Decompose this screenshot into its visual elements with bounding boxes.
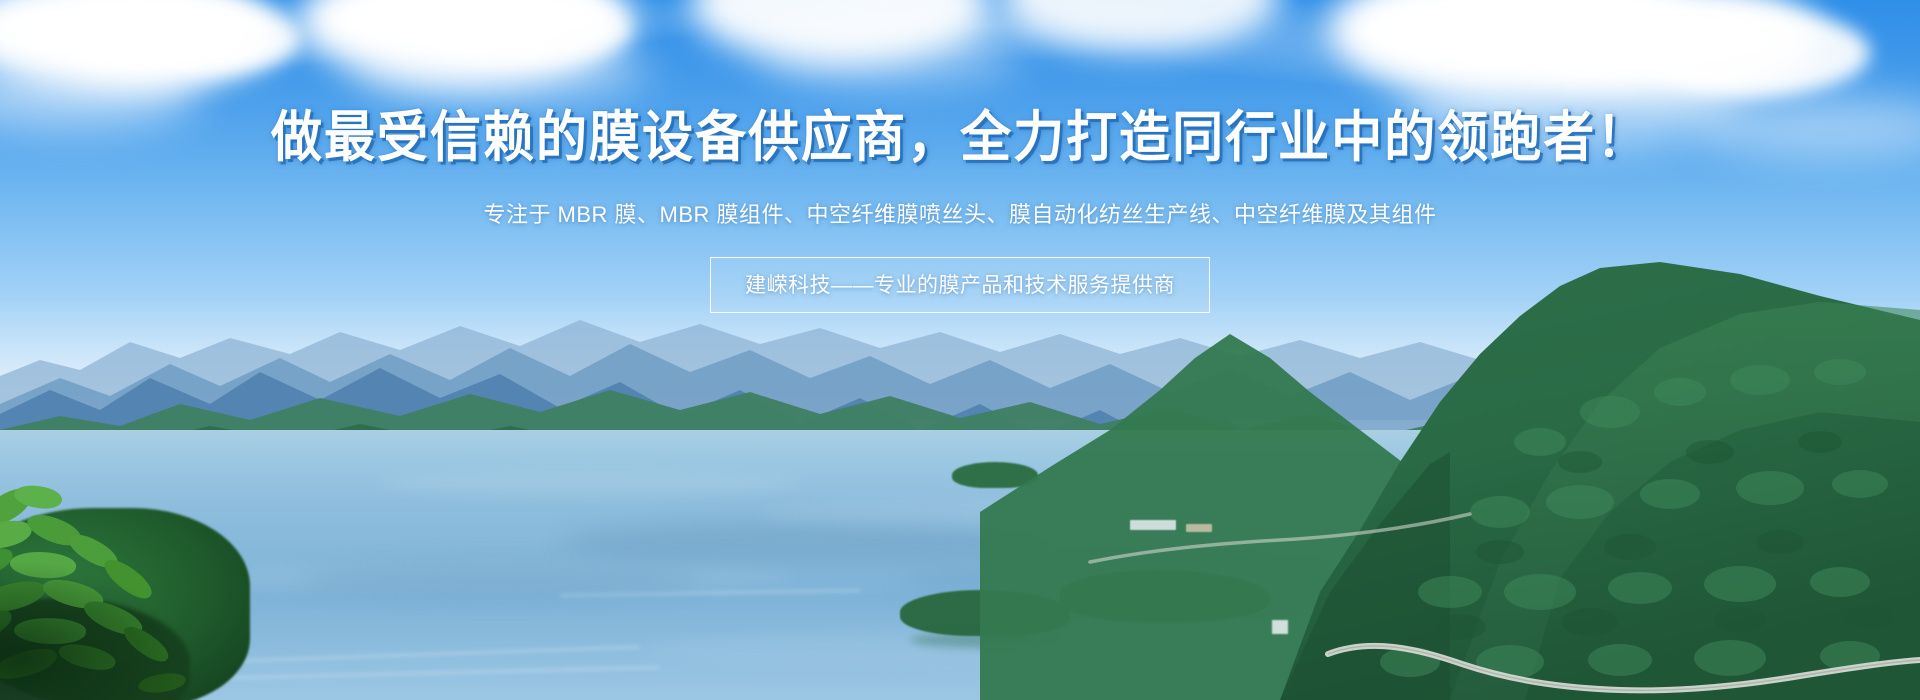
distant-structure <box>1272 620 1288 634</box>
shore-buildings-2 <box>1186 524 1212 532</box>
shore-buildings <box>1130 520 1176 530</box>
mountain-right-forested <box>980 262 1920 700</box>
hero-banner: 做最受信赖的膜设备供应商，全力打造同行业中的领跑者！ 专注于 MBR 膜、MBR… <box>0 0 1920 700</box>
foliage-edge-shadow <box>0 560 180 700</box>
